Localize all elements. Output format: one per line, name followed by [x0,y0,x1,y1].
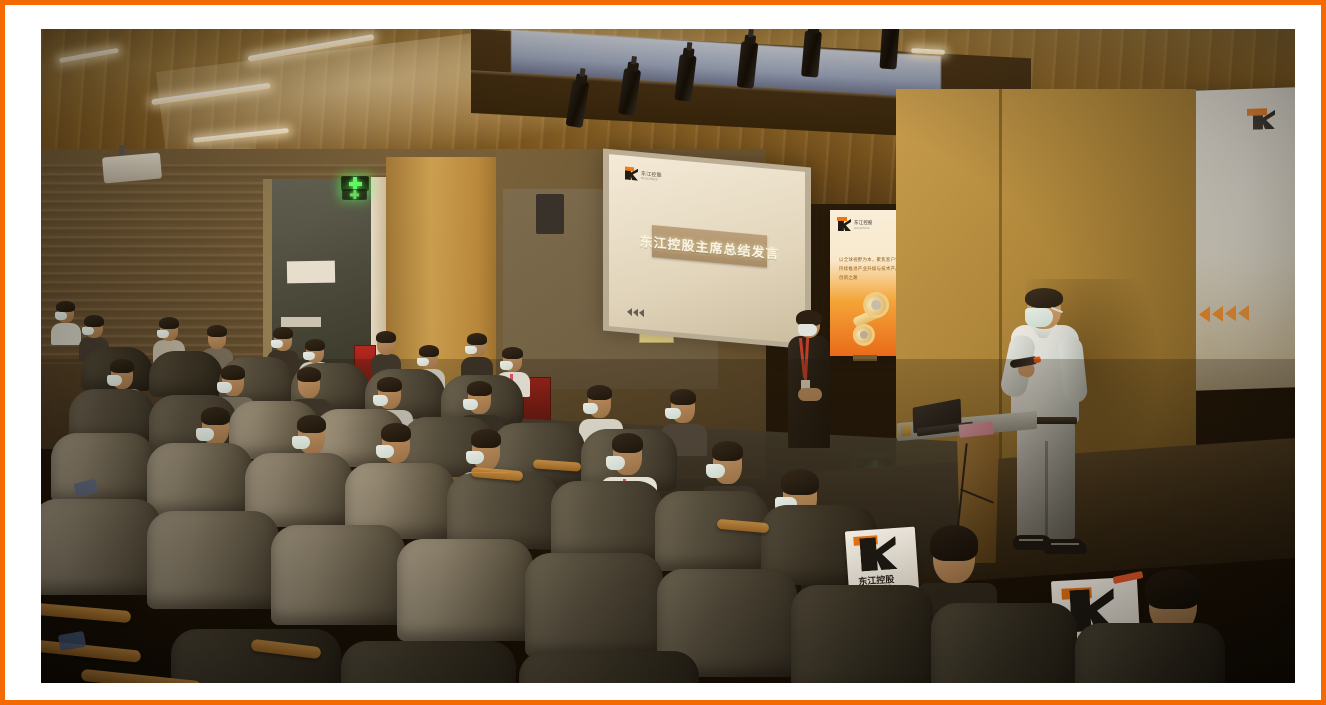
auditorium-seat [149,351,223,397]
slide-logo-subtext: HOLDINGS [641,176,658,182]
auditorium-seat [41,499,161,595]
photo-mat: 东江控股 HOLDINGS 东江控股主席总结发言 [41,29,1295,683]
slide-title: 东江控股主席总结发言 [640,230,780,262]
auditorium-seat [551,481,663,559]
audience-member [51,301,81,341]
face-mask-icon [1025,308,1053,327]
banner-line: 以全球视野为本，聚焦客户需求 [839,257,905,263]
auditorium-seat [341,641,516,683]
photo-frame: 东江控股 HOLDINGS 东江控股主席总结发言 [0,0,1326,705]
main-projection-screen: 东江控股 HOLDINGS 东江控股主席总结发言 [603,149,811,350]
auditorium-seat [271,525,405,625]
banner-line: 创新之路 [839,275,858,281]
banner-logo-subtext: HOLDINGS [854,226,870,230]
auditorium-seat [519,651,699,683]
wall-label [281,317,321,327]
roll-up-banner: 东江控股 HOLDINGS 以全球视野为本，聚焦客户需求 持续推进产业升级与技术… [830,210,900,356]
stage-spotlight [879,29,899,70]
auditorium-seat [931,603,1077,683]
wall-speaker [536,194,564,234]
banner-line: 持续推进产业升级与技术产品 [839,266,900,272]
auditorium-seat [791,585,933,683]
auditorium-seat [447,473,559,549]
connecting-rod-image [829,284,900,356]
face-mask-icon [798,324,817,336]
slide-logo: 东江控股 HOLDINGS [625,168,665,184]
exit-sign-icon [342,189,367,200]
presenter-hair [1025,288,1063,308]
audience-member [461,333,493,379]
k-mark-icon [859,536,897,571]
slide-title-bar: 东江控股主席总结发言 [652,225,767,267]
slide-chevron-icons [627,308,644,318]
auditorium-seat [397,539,533,641]
screen-surface: 东江控股 HOLDINGS 东江控股主席总结发言 [609,154,805,344]
running-man-icon [350,190,359,199]
conference-photograph: 东江控股 HOLDINGS 东江控股主席总结发言 [41,29,1295,683]
auditorium-seat [147,511,279,609]
screen-glow [1187,87,1295,391]
auditorium-seat [147,443,253,515]
auditorium-seat [51,433,155,503]
ceiling-projector [102,153,162,184]
auditorium-seat [1075,623,1225,683]
t-bar-icon [625,167,634,172]
t-bar-icon [837,217,847,221]
banner-logo: 东江控股 HOLDINGS [838,219,882,231]
wall-poster [287,261,335,284]
auditorium-seat [525,553,663,657]
